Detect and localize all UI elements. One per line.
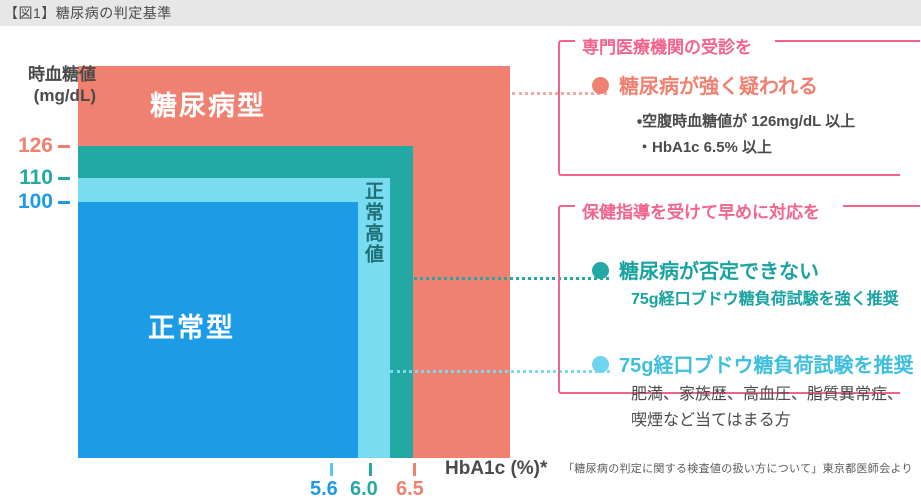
x-axis-tick-mark-5-6 <box>330 463 333 476</box>
y-axis-title: 時血糖値 <box>0 64 96 87</box>
criteria-line-ogtt-strongly: 75g経口ブドウ糖負荷試験を強く推奨 <box>631 285 899 309</box>
y-axis-tick-100: 100 <box>0 190 70 214</box>
criteria-line-risk-factors-1: 肥満、家族歴、高血圧、脂質異常症、 <box>631 380 903 404</box>
x-axis-title: HbA1c (%)* <box>445 458 547 480</box>
criteria-panel: 専門医療機関の受診を 保健指導を受けて早めに対応を 糖尿病が強く疑われる 糖尿病… <box>545 0 921 484</box>
y-axis-tick-110-dash <box>58 177 70 180</box>
criteria-line-risk-factors-2: 喫煙など当てはまる方 <box>631 406 791 430</box>
region-label-diabetes-type: 糖尿病型 <box>150 84 266 123</box>
y-axis-tick-110-value: 110 <box>19 166 53 189</box>
section-heading-specialist: 専門医療機関の受診を <box>578 33 756 58</box>
region-label-normal-type: 正常型 <box>148 306 235 345</box>
bullet-dot-cannot-exclude-diabetes <box>592 262 609 279</box>
region-label-high-normal: 正常高値 <box>363 181 382 265</box>
bullet-title-cannot-exclude-diabetes: 糖尿病が否定できない <box>619 255 819 284</box>
criteria-line-fasting-glucose: ・空腹時血糖値が 126mg/dL 以上 <box>637 110 855 131</box>
y-axis-unit: (mg/dL) <box>0 86 96 106</box>
bullet-dot-ogtt-recommended <box>592 356 609 373</box>
section-heading-health-guidance: 保健指導を受けて早めに対応を <box>578 198 824 223</box>
y-axis-tick-126-dash <box>58 145 70 148</box>
bullet-dot-diabetes-strongly-suspected <box>592 77 609 94</box>
y-axis-tick-126-value: 126 <box>18 134 53 157</box>
criteria-line-hba1c: ・HbA1c 6.5% 以上 <box>637 136 772 157</box>
y-axis-tick-100-dash <box>58 201 70 204</box>
y-axis-tick-110: 110 <box>0 166 70 190</box>
bullet-title-diabetes-strongly-suspected: 糖尿病が強く疑われる <box>619 70 818 99</box>
bullet-title-ogtt-recommended: 75g経口ブドウ糖負荷試験を推奨 <box>619 349 913 378</box>
x-axis-tick-6-0: 6.0 <box>350 478 378 501</box>
page-title: 【図1】糖尿病の判定基準 <box>0 3 172 23</box>
x-axis-tick-mark-6-5 <box>413 463 416 476</box>
source-footnote: 「糖尿病の判定に関する検査値の扱い方について」東京都医師会より <box>563 460 913 476</box>
x-axis-tick-6-5: 6.5 <box>396 478 424 501</box>
y-axis-tick-100-value: 100 <box>18 190 53 213</box>
bracket-mask-edge-1 <box>900 46 921 176</box>
diabetes-criteria-chart: 糖尿病型 正常型 正常高値 時血糖値 (mg/dL) 126 110 100 5… <box>0 26 545 484</box>
y-axis-tick-126: 126 <box>0 134 70 158</box>
x-axis-tick-mark-6-0 <box>369 463 372 476</box>
x-axis-tick-5-6: 5.6 <box>310 478 338 501</box>
